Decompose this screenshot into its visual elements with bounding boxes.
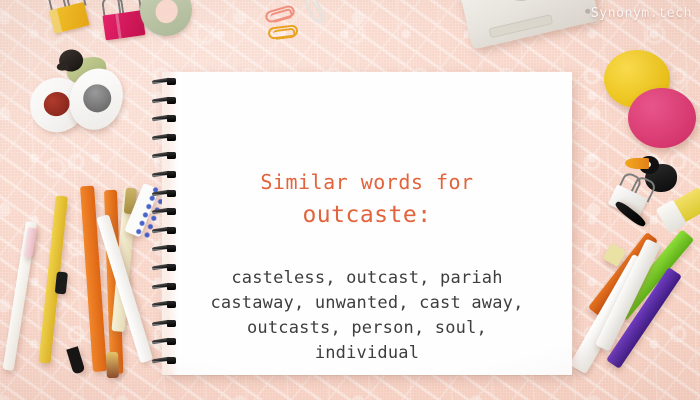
spiral-ring (152, 134, 177, 141)
ring-highlight (150, 82, 166, 84)
bird-beak (56, 62, 69, 71)
spiral-ring (152, 97, 177, 104)
page-title-query-word: outcaste: (162, 202, 572, 228)
spiral-ring (152, 245, 177, 252)
ring-highlight (150, 156, 166, 158)
eraser-center (80, 81, 115, 116)
synonym-list: casteless, outcast, pariah castaway, unw… (162, 266, 572, 366)
eraser-center (41, 89, 73, 120)
ring-end (167, 152, 176, 159)
toucan-beak (625, 158, 649, 169)
pencil-orange-2-tip (106, 352, 119, 378)
ring-end (167, 115, 176, 122)
ring-highlight (150, 119, 166, 121)
pencil-yellow-ferrule (55, 271, 68, 294)
ring-highlight (150, 101, 166, 103)
ring-highlight (150, 138, 166, 140)
ring-end (167, 134, 176, 141)
spiral-ring (152, 152, 177, 159)
ring-highlight (150, 249, 166, 251)
ring-end (167, 97, 176, 104)
ring-highlight (150, 231, 166, 233)
notebook: Similar words for outcaste: casteless, o… (150, 70, 572, 375)
spiral-ring (152, 115, 177, 122)
brand-watermark: Synonym.tech (591, 6, 692, 21)
ring-end (167, 245, 176, 252)
spiral-ring (152, 78, 177, 85)
page-title-prefix: Similar words for (162, 170, 572, 194)
ring-end (167, 78, 176, 85)
macaron-pink-icon (628, 88, 696, 148)
